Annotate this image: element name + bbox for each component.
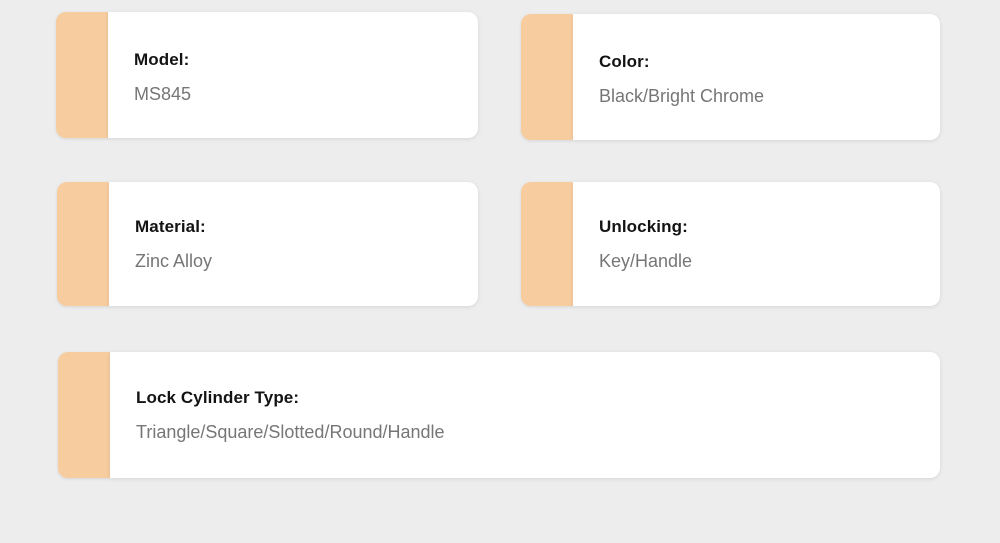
spec-label-model: Model: (134, 49, 478, 70)
spec-value-lock-cylinder-type: Triangle/Square/Slotted/Round/Handle (136, 421, 940, 444)
spec-card-lock-cylinder-type: Lock Cylinder Type: Triangle/Square/Slot… (58, 352, 940, 478)
spec-value-color: Black/Bright Chrome (599, 85, 940, 108)
spec-card-body: Color: Black/Bright Chrome (573, 14, 940, 140)
spec-label-color: Color: (599, 51, 940, 72)
spec-card-unlocking: Unlocking: Key/Handle (521, 182, 940, 306)
accent-bar (56, 12, 108, 138)
spec-card-body: Lock Cylinder Type: Triangle/Square/Slot… (110, 352, 940, 478)
accent-bar (521, 182, 573, 306)
spec-label-material: Material: (135, 216, 478, 237)
spec-card-body: Material: Zinc Alloy (109, 182, 478, 306)
spec-card-color: Color: Black/Bright Chrome (521, 14, 940, 140)
spec-label-lock-cylinder-type: Lock Cylinder Type: (136, 387, 940, 408)
spec-label-unlocking: Unlocking: (599, 216, 940, 237)
spec-value-model: MS845 (134, 83, 478, 106)
spec-card-body: Model: MS845 (108, 12, 478, 138)
accent-bar (521, 14, 573, 140)
accent-bar (58, 352, 110, 478)
product-specification-board: Model: MS845 Color: Black/Bright Chrome … (0, 0, 1000, 543)
spec-value-unlocking: Key/Handle (599, 250, 940, 273)
accent-bar (57, 182, 109, 306)
spec-card-body: Unlocking: Key/Handle (573, 182, 940, 306)
spec-card-material: Material: Zinc Alloy (57, 182, 478, 306)
spec-card-model: Model: MS845 (56, 12, 478, 138)
spec-value-material: Zinc Alloy (135, 250, 478, 273)
